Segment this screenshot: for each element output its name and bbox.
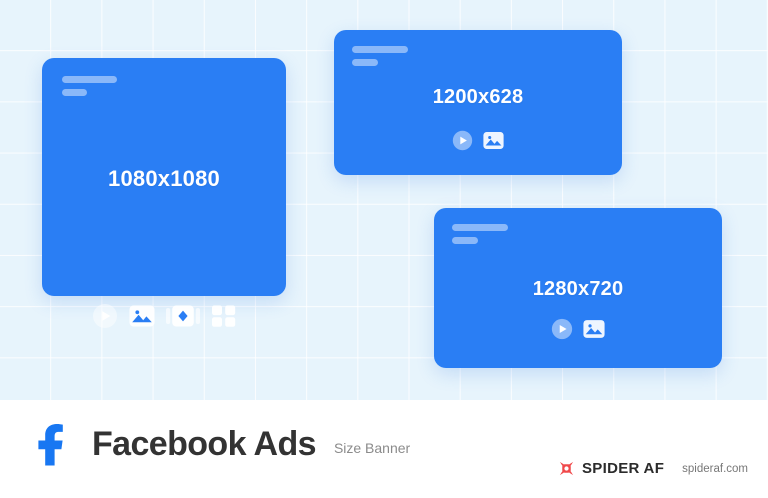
skeleton-bar-long <box>62 76 117 83</box>
image-icon <box>583 318 605 345</box>
skeleton-bar-long <box>452 224 508 231</box>
page-subtitle: Size Banner <box>334 432 410 456</box>
card-size-label: 1080x1080 <box>42 166 286 192</box>
footer-bar: Facebook Ads Size Banner SPIDER AF spide… <box>0 400 768 498</box>
play-icon <box>551 318 573 345</box>
partner-name: SPIDER AF <box>582 460 664 477</box>
grid-icon <box>211 303 237 334</box>
skeleton-bar-long <box>352 46 408 53</box>
skeleton-bar-short <box>452 237 478 244</box>
play-icon <box>92 303 118 334</box>
banner-page: 1080x1080 <box>0 0 768 498</box>
facebook-f-icon <box>30 422 70 466</box>
image-icon <box>129 303 155 334</box>
play-icon <box>452 130 473 156</box>
partner-credit[interactable]: SPIDER AF spideraf.com <box>558 460 748 477</box>
carousel-icon <box>166 303 200 334</box>
partner-url[interactable]: spideraf.com <box>682 463 748 475</box>
skeleton-bar-short <box>62 89 87 96</box>
brand-block: Facebook Ads Size Banner <box>30 422 410 466</box>
ad-size-card-square[interactable]: 1080x1080 <box>42 58 286 296</box>
card-format-icons <box>42 303 286 334</box>
grid-canvas: 1080x1080 <box>0 0 768 400</box>
card-size-label: 1280x720 <box>434 278 722 301</box>
card-size-label: 1200x628 <box>334 86 622 109</box>
card-skeleton-header <box>62 76 117 96</box>
card-format-icons <box>434 318 722 345</box>
image-icon <box>483 130 504 156</box>
card-format-icons <box>334 130 622 156</box>
ad-size-card-landscape-1200x628[interactable]: 1200x628 <box>334 30 622 175</box>
spider-af-icon <box>558 460 575 477</box>
skeleton-bar-short <box>352 59 378 66</box>
card-skeleton-header <box>352 46 408 66</box>
page-title: Facebook Ads <box>92 425 316 464</box>
ad-size-card-landscape-1280x720[interactable]: 1280x720 <box>434 208 722 368</box>
card-skeleton-header <box>452 224 508 244</box>
